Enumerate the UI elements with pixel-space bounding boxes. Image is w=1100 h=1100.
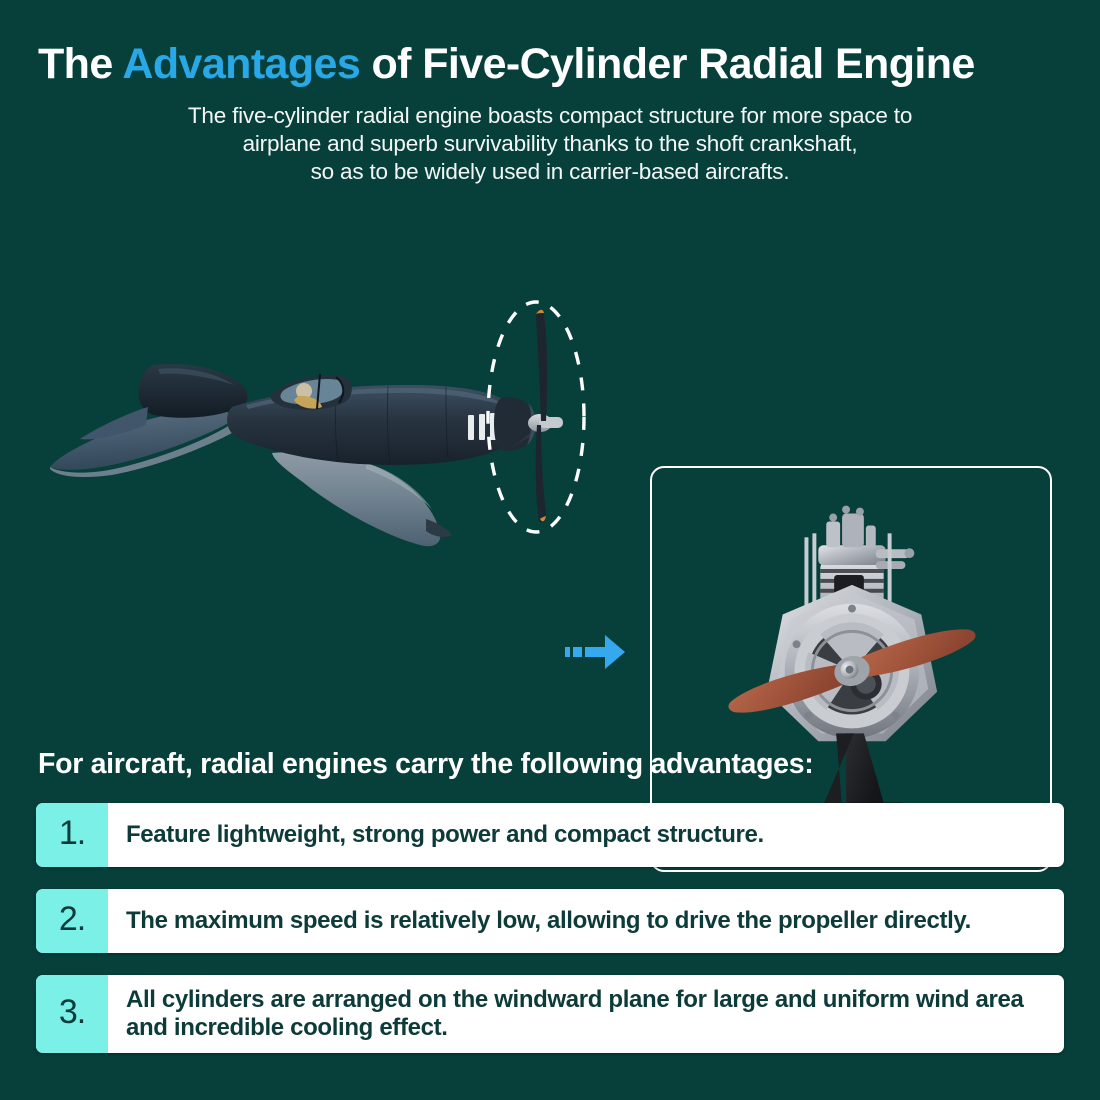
list-item-text: All cylinders are arranged on the windwa… [108, 975, 1064, 1053]
aircraft-image [36, 257, 616, 557]
title-highlight: Advantages [122, 40, 360, 88]
list-item-text: Feature lightweight, strong power and co… [108, 803, 1064, 867]
hero-section [0, 211, 1100, 641]
list-item-number: 1. [36, 803, 108, 867]
list-item-text: The maximum speed is relatively low, all… [108, 889, 1064, 953]
subtitle: The five-cylinder radial engine boasts c… [38, 102, 1062, 185]
subtitle-line-2: airplane and superb survivability thanks… [84, 130, 1016, 158]
arrow-right-icon [565, 629, 627, 675]
list-item-number: 3. [36, 975, 108, 1053]
title-part-1: The [38, 40, 122, 88]
advantages-card-list: 1. Feature lightweight, strong power and… [0, 803, 1100, 1053]
list-item[interactable]: 1. Feature lightweight, strong power and… [36, 803, 1064, 867]
subtitle-line-1: The five-cylinder radial engine boasts c… [84, 102, 1016, 130]
subtitle-line-3: so as to be widely used in carrier-based… [84, 158, 1016, 186]
advantages-heading: For aircraft, radial engines carry the f… [38, 748, 1100, 781]
list-item[interactable]: 3. All cylinders are arranged on the win… [36, 975, 1064, 1053]
page-title: The Advantages of Five-Cylinder Radial E… [38, 40, 1062, 88]
list-item-number: 2. [36, 889, 108, 953]
list-item[interactable]: 2. The maximum speed is relatively low, … [36, 889, 1064, 953]
header: The Advantages of Five-Cylinder Radial E… [0, 0, 1100, 185]
title-part-2: of Five-Cylinder Radial Engine [360, 40, 975, 88]
advantages-section: For aircraft, radial engines carry the f… [0, 748, 1100, 1075]
